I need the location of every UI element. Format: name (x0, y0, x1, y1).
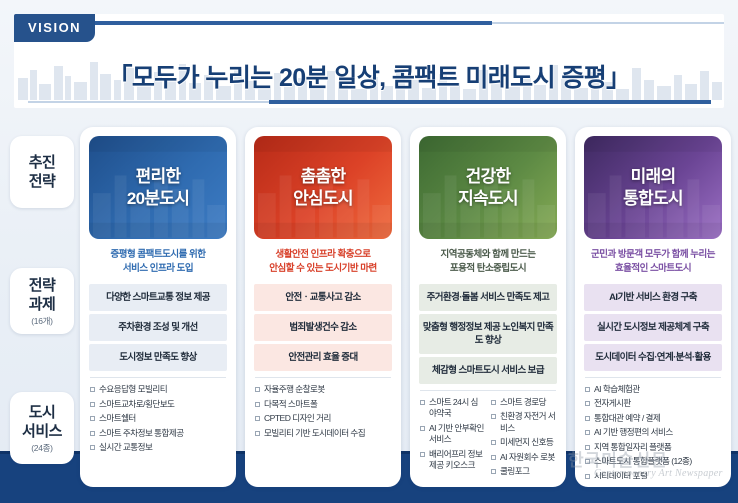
column-header-4: 미래의 통합도시 (584, 136, 722, 239)
task-item[interactable]: AI기반 서비스 환경 구축 (584, 284, 722, 311)
service-label: 수요응답형 모빌리티 (99, 384, 167, 396)
service-label: AI 자원회수 로봇 (500, 452, 555, 464)
service-item[interactable]: AI 기반 안부확인 서비스 (420, 423, 485, 446)
column-header-3: 건강한 지속도시 (419, 136, 557, 239)
service-subcolumn-left-2: 자율주행 순찰로봇 다목적 스마트폴 CPTED 디자인 거리 모빌리티 기반 … (255, 384, 391, 479)
rail-service-line1: 도시 (29, 403, 56, 422)
task-item[interactable]: 주거환경·돌봄 서비스 만족도 제고 (419, 284, 557, 311)
checkbox-icon (491, 455, 496, 460)
service-item[interactable]: 스마트도시 통합플랫폼 (12종) (585, 456, 721, 468)
checkbox-icon (585, 430, 590, 435)
slide-root: 「모두가 누리는 20분 일상, 콤팩트 미래도시 증평」 VISION 추진 … (0, 0, 738, 503)
column-subtitle-line1-4: 군민과 방문객 모두가 함께 누리는 (586, 248, 720, 262)
task-item[interactable]: 도시정보 만족도 향상 (89, 344, 227, 371)
column-title-line1-3: 건강한 (458, 166, 518, 188)
checkbox-icon (585, 387, 590, 392)
column-title-line2-1: 20분도시 (127, 188, 189, 210)
service-item[interactable]: 시티데이터 포털 (585, 471, 721, 479)
service-item[interactable]: AI 학습체험관 (585, 384, 721, 396)
task-item[interactable]: 실시간 도시정보 제공체계 구축 (584, 314, 722, 341)
rail-strategy-line2: 전략 (29, 172, 56, 191)
column-subtitle-line2-3: 포용적 탄소중립도시 (421, 262, 555, 276)
service-label: 스마트 경로당 (500, 397, 546, 409)
checkbox-icon (90, 445, 95, 450)
service-label: 쿨링포그 (500, 466, 529, 478)
service-item[interactable]: 수요응답형 모빌리티 (90, 384, 226, 396)
task-item[interactable]: 다양한 스마트교통 정보 제공 (89, 284, 227, 311)
rail-strategy-line1: 추진 (29, 153, 56, 172)
column-tasks-1: 다양한 스마트교통 정보 제공 주차환경 조성 및 개선 도시정보 만족도 향상 (89, 284, 227, 374)
checkbox-icon (585, 401, 590, 406)
vision-header: 「모두가 누리는 20분 일상, 콤팩트 미래도시 증평」 VISION (14, 14, 724, 108)
column-title-3: 건강한 지속도시 (458, 166, 518, 210)
service-item[interactable]: 스마트 주차정보 통합제공 (90, 428, 226, 440)
service-subcolumn-left-4: AI 학습체험관 전자게시판 통합대관 예약 / 결제 AI 기반 행정편의 서… (585, 384, 721, 479)
column-title-1: 편리한 20분도시 (127, 166, 189, 210)
service-item[interactable]: CPTED 디자인 거리 (255, 413, 391, 425)
service-item[interactable]: 배리어프리 정보제공 키오스크 (420, 449, 485, 472)
task-item[interactable]: 안전ㆍ교통사고 감소 (254, 284, 392, 311)
service-label: AI 학습체험관 (594, 384, 640, 396)
column-title-line2-3: 지속도시 (458, 188, 518, 210)
column-divider-1 (90, 377, 226, 378)
column-title-line1-1: 편리한 (127, 166, 189, 188)
page-title: 「모두가 누리는 20분 일상, 콤팩트 미래도시 증평」 (14, 58, 724, 94)
checkbox-icon (585, 416, 590, 421)
strategy-column-3[interactable]: 건강한 지속도시 지역공동체와 함께 만드는 포용적 탄소중립도시 주거환경·돌… (410, 127, 566, 487)
rail-task-count: (16개) (31, 315, 52, 327)
service-label: 스마트도시 통합플랫폼 (12종) (594, 456, 692, 468)
service-label: 스마트 주차정보 통합제공 (99, 428, 184, 440)
service-label: AI 기반 행정편의 서비스 (594, 427, 673, 439)
vision-badge: VISION (14, 14, 95, 42)
checkbox-icon (585, 445, 590, 450)
service-label: 지역 통합일자리 플랫폼 (594, 442, 671, 454)
checkbox-icon (255, 416, 260, 421)
strategy-column-1[interactable]: 편리한 20분도시 증평형 콤팩트도시를 위한 서비스 인프라 도입 다양한 스… (80, 127, 236, 487)
column-title-4: 미래의 통합도시 (623, 166, 683, 210)
task-item[interactable]: 범죄발생건수 감소 (254, 314, 392, 341)
column-subtitle-line1-3: 지역공동체와 함께 만드는 (421, 248, 555, 262)
column-services-3: 스마트 24시 심야약국 AI 기반 안부확인 서비스 배리어프리 정보제공 키… (419, 397, 557, 479)
checkbox-icon (491, 414, 496, 419)
service-item[interactable]: 미세먼지 신호등 (491, 437, 556, 449)
service-item[interactable]: 스마트 24시 심야약국 (420, 397, 485, 420)
service-label: 통합대관 예약 / 결제 (594, 413, 660, 425)
service-item[interactable]: 쿨링포그 (491, 466, 556, 478)
checkbox-icon (90, 387, 95, 392)
service-label: 시티데이터 포털 (594, 471, 647, 479)
column-subtitle-line2-4: 효율적인 스마트도시 (586, 262, 720, 276)
checkbox-icon (420, 452, 425, 457)
service-label: 다목적 스마트폴 (264, 399, 317, 411)
service-item[interactable]: 모빌리티 기반 도시데이터 수집 (255, 428, 391, 440)
service-label: CPTED 디자인 거리 (264, 413, 331, 425)
checkbox-icon (90, 402, 95, 407)
column-tasks-2: 안전ㆍ교통사고 감소 범죄발생건수 감소 안전관리 효율 증대 (254, 284, 392, 374)
service-subcolumn-left-1: 수요응답형 모빌리티 스마트교차로/횡단보도 스마트쉘터 스마트 주차정보 통합… (90, 384, 226, 479)
rail-task-line2: 과제 (29, 295, 56, 314)
service-item[interactable]: 친환경 자전거 서비스 (491, 411, 556, 434)
column-title-line2-4: 통합도시 (623, 188, 683, 210)
rail-service-line2: 서비스 (22, 422, 62, 441)
strategy-column-2[interactable]: 촘촘한 안심도시 생활안전 인프라 확충으로 안심할 수 있는 도시기반 마련 … (245, 127, 401, 487)
column-subtitle-4: 군민과 방문객 모두가 함께 누리는 효율적인 스마트도시 (584, 239, 722, 284)
column-divider-4 (585, 377, 721, 378)
header-rule-top-light (492, 22, 724, 24)
service-item[interactable]: 통합대관 예약 / 결제 (585, 413, 721, 425)
column-services-4: AI 학습체험관 전자게시판 통합대관 예약 / 결제 AI 기반 행정편의 서… (584, 384, 722, 479)
checkbox-icon (255, 387, 260, 392)
service-label: 스마트쉘터 (99, 413, 136, 425)
service-label: 자율주행 순찰로봇 (264, 384, 325, 396)
service-label: 스마트교차로/횡단보도 (99, 399, 174, 411)
rail-item-strategy: 추진 전략 (10, 136, 74, 208)
checkbox-icon (491, 469, 496, 474)
task-item[interactable]: 주차환경 조성 및 개선 (89, 314, 227, 341)
service-label: 실시간 교통정보 (99, 442, 152, 454)
column-services-1: 수요응답형 모빌리티 스마트교차로/횡단보도 스마트쉘터 스마트 주차정보 통합… (89, 384, 227, 479)
checkbox-icon (90, 431, 95, 436)
column-subtitle-line1-2: 생활안전 인프라 확충으로 (256, 248, 390, 262)
service-item[interactable]: 다목적 스마트폴 (255, 399, 391, 411)
rail-item-task: 전략 과제 (16개) (10, 268, 74, 334)
column-title-line2-2: 안심도시 (293, 188, 353, 210)
column-title-line1-2: 촘촘한 (293, 166, 353, 188)
rail-item-service: 도시 서비스 (24종) (10, 392, 74, 464)
checkbox-icon (420, 426, 425, 431)
service-label: 미세먼지 신호등 (500, 437, 553, 449)
task-item[interactable]: 체감형 스마트도시 서비스 보급 (419, 357, 557, 384)
service-item[interactable]: 스마트교차로/횡단보도 (90, 399, 226, 411)
checkbox-icon (585, 474, 590, 479)
service-label: AI 기반 안부확인 서비스 (429, 423, 485, 446)
service-item[interactable]: 자율주행 순찰로봇 (255, 384, 391, 396)
service-subcolumn-right-3: 스마트 경로당 친환경 자전거 서비스 미세먼지 신호등 AI 자원회수 로봇 (491, 397, 556, 479)
service-label: 스마트 24시 심야약국 (429, 397, 485, 420)
column-subtitle-line2-1: 서비스 인프라 도입 (91, 262, 225, 276)
column-divider-2 (255, 377, 391, 378)
service-item[interactable]: 실시간 교통정보 (90, 442, 226, 454)
rail-task-line1: 전략 (29, 276, 56, 295)
column-services-2: 자율주행 순찰로봇 다목적 스마트폴 CPTED 디자인 거리 모빌리티 기반 … (254, 384, 392, 479)
service-subcolumn-left-3: 스마트 24시 심야약국 AI 기반 안부확인 서비스 배리어프리 정보제공 키… (420, 397, 485, 479)
checkbox-icon (255, 402, 260, 407)
service-item[interactable]: 전자게시판 (585, 398, 721, 410)
rail-service-count: (24종) (31, 442, 52, 454)
service-item[interactable]: 스마트쉘터 (90, 413, 226, 425)
header-rule-top (92, 21, 492, 25)
service-item[interactable]: AI 기반 행정편의 서비스 (585, 427, 721, 439)
service-label: 배리어프리 정보제공 키오스크 (429, 449, 485, 472)
service-item[interactable]: AI 자원회수 로봇 (491, 452, 556, 464)
column-subtitle-line2-2: 안심할 수 있는 도시기반 마련 (256, 262, 390, 276)
column-title-line1-4: 미래의 (623, 166, 683, 188)
column-subtitle-2: 생활안전 인프라 확충으로 안심할 수 있는 도시기반 마련 (254, 239, 392, 284)
column-subtitle-1: 증평형 콤팩트도시를 위한 서비스 인프라 도입 (89, 239, 227, 284)
service-item[interactable]: 스마트 경로당 (491, 397, 556, 409)
checkbox-icon (420, 400, 425, 405)
checkbox-icon (585, 459, 590, 464)
task-item[interactable]: 맞춤형 행정정보 제공 노인복지 만족도 향상 (419, 314, 557, 354)
checkbox-icon (90, 416, 95, 421)
checkbox-icon (255, 431, 260, 436)
column-tasks-3: 주거환경·돌봄 서비스 만족도 제고 맞춤형 행정정보 제공 노인복지 만족도 … (419, 284, 557, 387)
header-rule-bottom-light (28, 101, 269, 103)
task-item[interactable]: 안전관리 효율 증대 (254, 344, 392, 371)
service-label: 친환경 자전거 서비스 (500, 411, 556, 434)
strategy-column-4[interactable]: 미래의 통합도시 군민과 방문객 모두가 함께 누리는 효율적인 스마트도시 A… (575, 127, 731, 487)
service-label: 전자게시판 (594, 398, 631, 410)
service-item[interactable]: 지역 통합일자리 플랫폼 (585, 442, 721, 454)
header-rule-bottom (269, 100, 711, 104)
column-header-2: 촘촘한 안심도시 (254, 136, 392, 239)
service-label: 모빌리티 기반 도시데이터 수집 (264, 428, 365, 440)
task-item[interactable]: 도시데이터 수집·연계·분석·활용 (584, 344, 722, 371)
checkbox-icon (491, 400, 496, 405)
column-divider-3 (420, 390, 556, 391)
checkbox-icon (491, 440, 496, 445)
column-subtitle-3: 지역공동체와 함께 만드는 포용적 탄소중립도시 (419, 239, 557, 284)
column-header-1: 편리한 20분도시 (89, 136, 227, 239)
column-subtitle-line1-1: 증평형 콤팩트도시를 위한 (91, 248, 225, 262)
column-tasks-4: AI기반 서비스 환경 구축 실시간 도시정보 제공체계 구축 도시데이터 수집… (584, 284, 722, 374)
column-title-2: 촘촘한 안심도시 (293, 166, 353, 210)
